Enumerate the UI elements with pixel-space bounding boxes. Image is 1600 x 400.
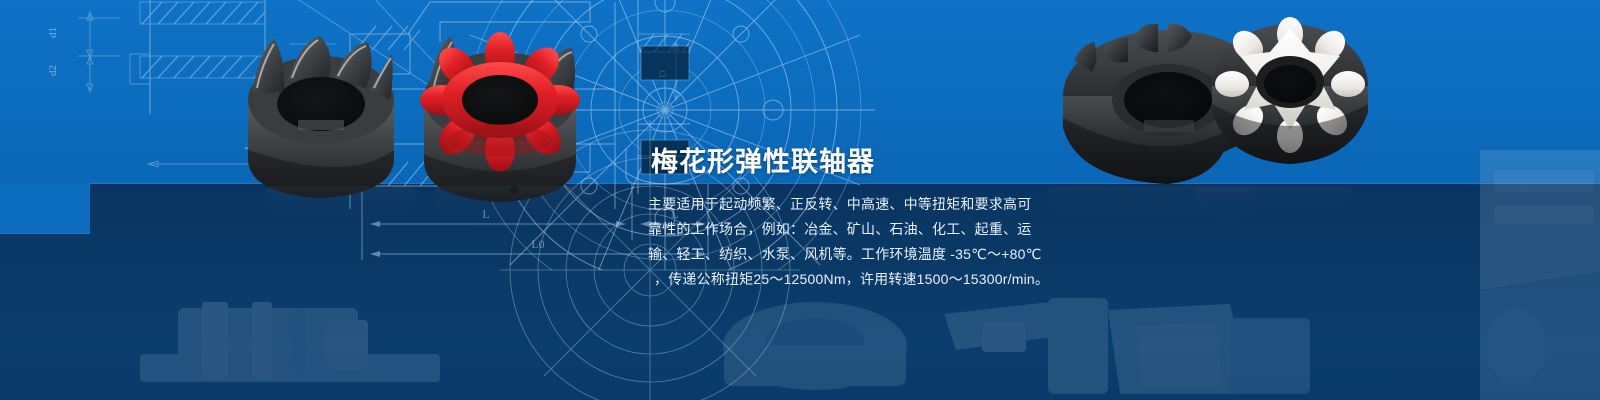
product-banner: d1 d2 [0, 0, 1600, 400]
description-line-3: 输、轻工、纺织、水泵、风机等。工作环境温度 -35℃～+80℃ [648, 242, 1068, 267]
black-coupling-hub-with-white-spider [1212, 17, 1368, 164]
product-description: 主要适用于起动频繁、正反转、中高速、中等扭矩和要求高可 靠性的工作场合，例如：冶… [648, 192, 1068, 292]
product-image-right [1018, 8, 1378, 208]
page-title: 梅花形弹性联轴器 [651, 140, 875, 179]
description-line-4: ，传递公称扭矩25～12500Nm，许用转速1500～15300r/min。 [648, 267, 1068, 292]
description-line-2: 靠性的工作场合，例如：冶金、矿山、石油、化工、起重、运 [648, 217, 1068, 242]
product-image-left [228, 8, 628, 226]
description-line-1: 主要适用于起动频繁、正反转、中高速、中等扭矩和要求高可 [648, 192, 1068, 217]
black-coupling-hub-with-red-spider [420, 32, 580, 202]
blueprint-label-d2: d2 [47, 65, 59, 76]
black-coupling-hub [248, 36, 394, 198]
blueprint-label-d1: d1 [47, 27, 59, 38]
